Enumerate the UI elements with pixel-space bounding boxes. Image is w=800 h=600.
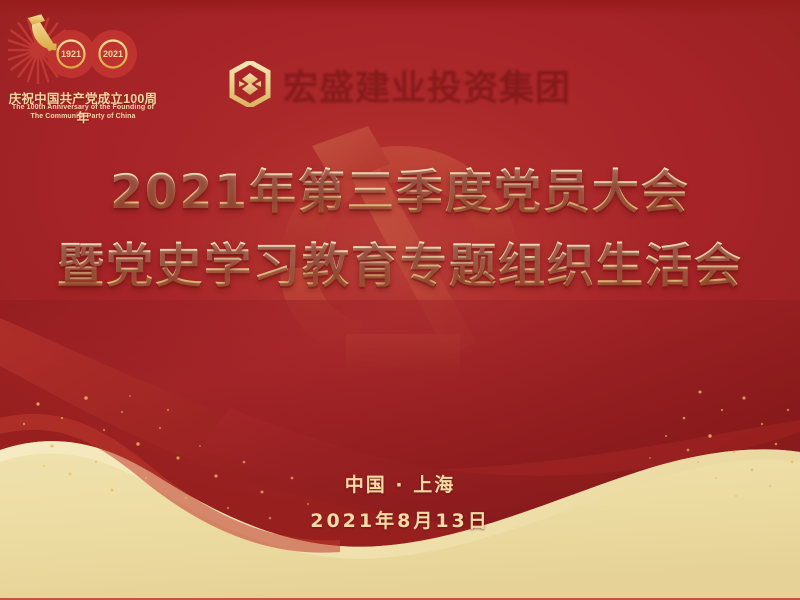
hongsheng-hexagon-logo-icon: [229, 61, 271, 107]
page-title: 2021年第三季度党员大会 暨党史学习教育专题组织生活会: [0, 166, 800, 293]
title-line-2: 暨党史学习教育专题组织生活会: [0, 240, 800, 294]
event-location: 中国 · 上海: [0, 470, 800, 497]
anniversary-english-line2: The Communist Party of China: [8, 112, 158, 121]
title-line-1: 2021年第三季度党员大会: [0, 166, 800, 220]
conference-backdrop-poster: 1921 2021 庆祝中国共产党成立100周年 The 100th Anniv…: [0, 0, 800, 600]
event-date: 2021年8月13日: [0, 506, 800, 533]
event-footer: 中国 · 上海 2021年8月13日: [0, 470, 800, 533]
company-name: 宏盛建业投资集团: [283, 58, 571, 109]
company-brand: 宏盛建业投资集团: [0, 58, 800, 109]
